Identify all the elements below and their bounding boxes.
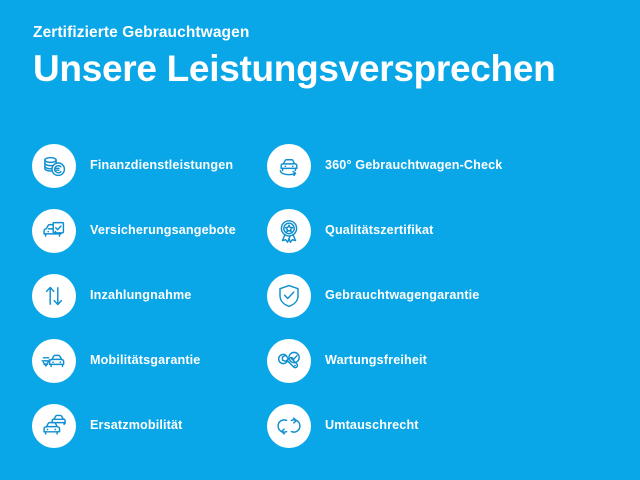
feature-label: Versicherungsangebote (90, 223, 236, 237)
up-down-arrows-icon (32, 274, 76, 318)
feature-label: Finanzdienstleistungen (90, 158, 233, 172)
feature-item-versicherungsangebote: Versicherungsangebote (32, 198, 267, 263)
feature-item-qualitaetszertifikat: Qualitätszertifikat (267, 198, 608, 263)
feature-item-finanzdienstleistungen: Finanzdienstleistungen (32, 133, 267, 198)
feature-item-360-check: 360° Gebrauchtwagen-Check (267, 133, 608, 198)
car-speed-lines-icon (32, 339, 76, 383)
coins-euro-icon (32, 144, 76, 188)
feature-label: 360° Gebrauchtwagen-Check (325, 158, 502, 172)
eyebrow-text: Zertifizierte Gebrauchtwagen (33, 24, 613, 41)
exchange-arrows-icon (267, 404, 311, 448)
wrench-check-icon (267, 339, 311, 383)
two-cars-icon (32, 404, 76, 448)
feature-label: Ersatzmobilität (90, 418, 183, 432)
feature-item-wartungsfreiheit: Wartungsfreiheit (267, 328, 608, 393)
feature-item-gebrauchtwagengarantie: Gebrauchtwagengarantie (267, 263, 608, 328)
car-360-arrow-icon (267, 144, 311, 188)
feature-item-umtauschrecht: Umtauschrecht (267, 393, 608, 458)
shield-check-icon (267, 274, 311, 318)
award-rosette-star-icon (267, 209, 311, 253)
feature-item-ersatzmobilitaet: Ersatzmobilität (32, 393, 267, 458)
feature-label: Mobilitätsgarantie (90, 353, 200, 367)
feature-label: Wartungsfreiheit (325, 353, 427, 367)
feature-label: Inzahlungnahme (90, 288, 191, 302)
car-checkbox-icon (32, 209, 76, 253)
header: Zertifizierte Gebrauchtwagen Unsere Leis… (33, 24, 613, 89)
feature-item-inzahlungnahme: Inzahlungnahme (32, 263, 267, 328)
feature-label: Gebrauchtwagengarantie (325, 288, 479, 302)
feature-item-mobilitaetsgarantie: Mobilitätsgarantie (32, 328, 267, 393)
feature-label: Qualitätszertifikat (325, 223, 434, 237)
page-title: Unsere Leistungsversprechen (33, 50, 613, 89)
feature-label: Umtauschrecht (325, 418, 419, 432)
promo-slide: Zertifizierte Gebrauchtwagen Unsere Leis… (0, 0, 640, 480)
feature-grid: Finanzdienstleistungen 360° Gebrauchtwag… (32, 133, 608, 458)
